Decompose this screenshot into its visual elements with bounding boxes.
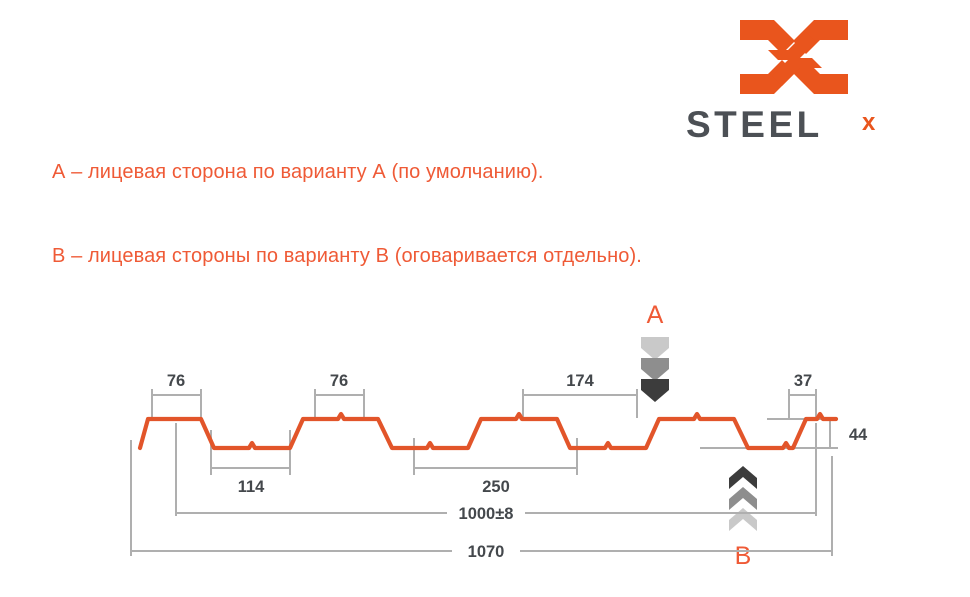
drawing-page: STEEL x А – лицевая сторона по варианту …: [0, 0, 970, 597]
profile-polyline: [140, 414, 836, 448]
steelx-x-mark-icon: [738, 18, 850, 96]
dimension-texts: 76 76 174 37 114 250 1000±8 1070 44: [167, 372, 868, 561]
dim-text-174: 174: [566, 372, 594, 390]
dim-text-114: 114: [238, 478, 265, 496]
profile-technical-drawing: 76 76 174 37 114 250 1000±8 1070 44: [0, 290, 970, 580]
note-variant-a: А – лицевая сторона по варианту А (по ум…: [52, 161, 544, 184]
note-variant-b: В – лицевая стороны по варианту В (огова…: [52, 245, 642, 268]
dim-text-76-a: 76: [167, 372, 185, 390]
dim-text-44: 44: [849, 426, 868, 444]
wordmark-steel-text: STEEL: [686, 106, 823, 145]
dim-text-76-b: 76: [330, 372, 348, 390]
steelx-logo: STEEL x: [686, 18, 906, 143]
dim-text-1000: 1000±8: [459, 505, 514, 523]
wordmark-x-superscript: x: [862, 109, 876, 136]
dim-text-250: 250: [482, 478, 510, 496]
dim-text-1070: 1070: [468, 543, 505, 561]
steelx-wordmark: STEEL x: [686, 106, 906, 146]
dimension-lines: [131, 389, 838, 556]
dim-text-37: 37: [794, 372, 812, 390]
